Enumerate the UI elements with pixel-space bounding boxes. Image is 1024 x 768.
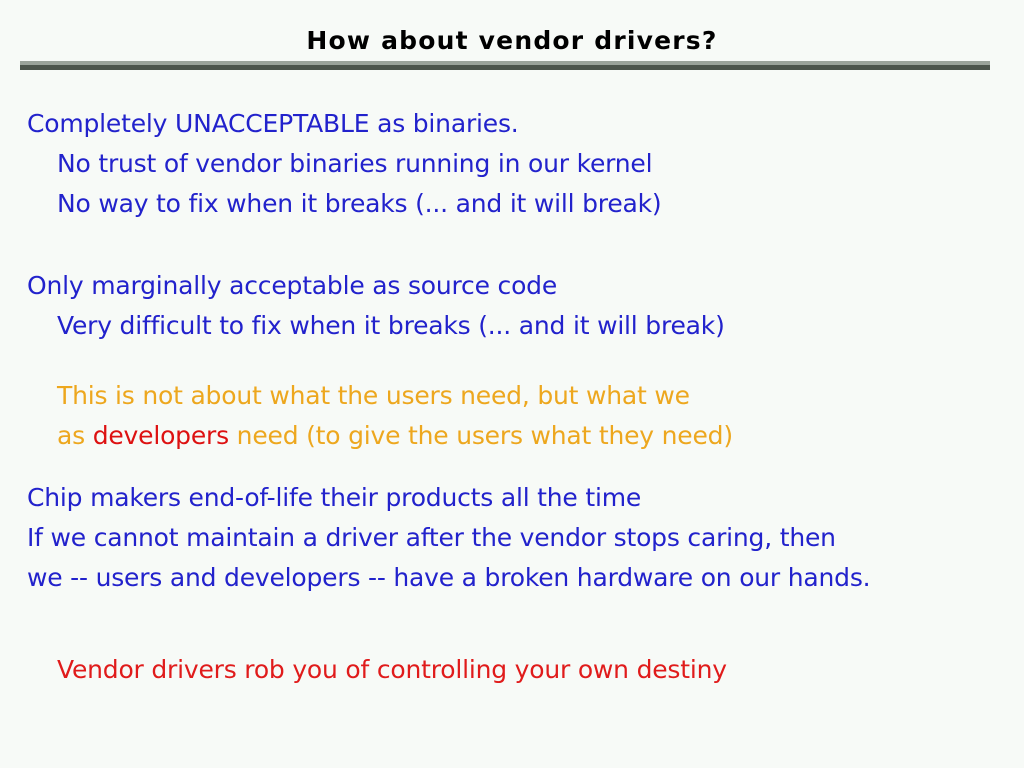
text-line-with-emphasis: as developers need (to give the users wh… xyxy=(57,416,1024,456)
text-block-end-of-life: Chip makers end-of-life their products a… xyxy=(0,478,1024,598)
text-block-binaries: Completely UNACCEPTABLE as binaries. No … xyxy=(0,104,1024,224)
slide-body: Completely UNACCEPTABLE as binaries. No … xyxy=(0,104,1024,690)
text-segment-suffix: need (to give the users what they need) xyxy=(229,421,733,450)
divider-shadow xyxy=(20,65,990,70)
text-block-destiny: Vendor drivers rob you of controlling yo… xyxy=(0,650,1024,690)
text-line: Chip makers end-of-life their products a… xyxy=(27,478,1024,518)
text-line: Very difficult to fix when it breaks (..… xyxy=(57,306,1024,346)
block-spacer xyxy=(0,598,1024,650)
emphasis-word-developers: developers xyxy=(93,421,229,450)
text-line: Vendor drivers rob you of controlling yo… xyxy=(57,650,1024,690)
text-line: Only marginally acceptable as source cod… xyxy=(27,266,1024,306)
text-line: we -- users and developers -- have a bro… xyxy=(27,558,1024,598)
slide-canvas: How about vendor drivers? Completely UNA… xyxy=(0,0,1024,768)
text-segment-prefix: as xyxy=(57,421,93,450)
text-line: Completely UNACCEPTABLE as binaries. xyxy=(27,104,1024,144)
block-spacer xyxy=(0,456,1024,478)
text-block-developers-need: This is not about what the users need, b… xyxy=(0,376,1024,456)
title-divider-rule xyxy=(20,61,990,70)
text-line: No trust of vendor binaries running in o… xyxy=(57,144,1024,184)
text-line: If we cannot maintain a driver after the… xyxy=(27,518,1024,558)
page-title: How about vendor drivers? xyxy=(0,26,1024,56)
text-block-source-code: Only marginally acceptable as source cod… xyxy=(0,266,1024,346)
text-line: No way to fix when it breaks (... and it… xyxy=(57,184,1024,224)
text-line: This is not about what the users need, b… xyxy=(57,376,1024,416)
slide-title-area: How about vendor drivers? xyxy=(0,26,1024,56)
block-spacer xyxy=(0,346,1024,376)
block-spacer xyxy=(0,224,1024,266)
